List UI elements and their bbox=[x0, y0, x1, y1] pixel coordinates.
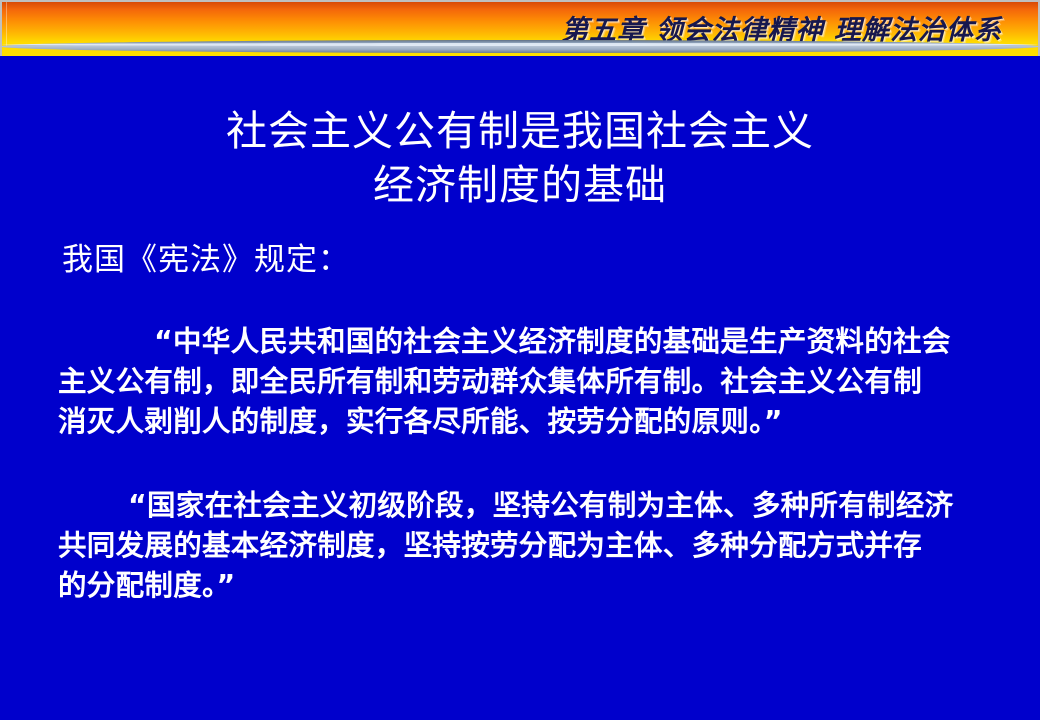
constitution-quote-1: “中华人民共和国的社会主义经济制度的基础是生产资料的社会 主义公有制，即全民所有… bbox=[58, 322, 1004, 442]
slide-title-line-1: 社会主义公有制是我国社会主义 bbox=[0, 104, 1040, 158]
quote-1-line-1: “中华人民共和国的社会主义经济制度的基础是生产资料的社会 bbox=[58, 322, 1004, 362]
banner-edge-highlight bbox=[6, 2, 7, 46]
banner-divider-highlight bbox=[2, 43, 1038, 46]
quote-1-line-3: 消灭人剥削人的制度，实行各尽所能、按劳分配的原则。” bbox=[58, 402, 1004, 442]
slide-title: 社会主义公有制是我国社会主义 经济制度的基础 bbox=[0, 104, 1040, 212]
quote-2-line-1: “国家在社会主义初级阶段，坚持公有制为主体、多种所有制经济 bbox=[58, 486, 1004, 526]
quote-2-line-3: 的分配制度。” bbox=[58, 566, 1004, 606]
slide-body: 社会主义公有制是我国社会主义 经济制度的基础 我国《宪法》规定： “中华人民共和… bbox=[0, 62, 1040, 720]
quote-1-line-2: 主义公有制，即全民所有制和劳动群众集体所有制。社会主义公有制 bbox=[58, 362, 1004, 402]
quote-2-line-2: 共同发展的基本经济制度，坚持按劳分配为主体、多种分配方式并存 bbox=[58, 526, 1004, 566]
slide-title-line-2: 经济制度的基础 bbox=[0, 158, 1040, 212]
presentation-slide: 第五章 领会法律精神 理解法治体系 社会主义公有制是我国社会主义 经济制度的基础… bbox=[0, 0, 1040, 720]
constitution-quote-2: “国家在社会主义初级阶段，坚持公有制为主体、多种所有制经济 共同发展的基本经济制… bbox=[58, 486, 1004, 606]
lead-line: 我国《宪法》规定： bbox=[62, 234, 350, 279]
banner-divider-lens bbox=[0, 40, 1040, 53]
